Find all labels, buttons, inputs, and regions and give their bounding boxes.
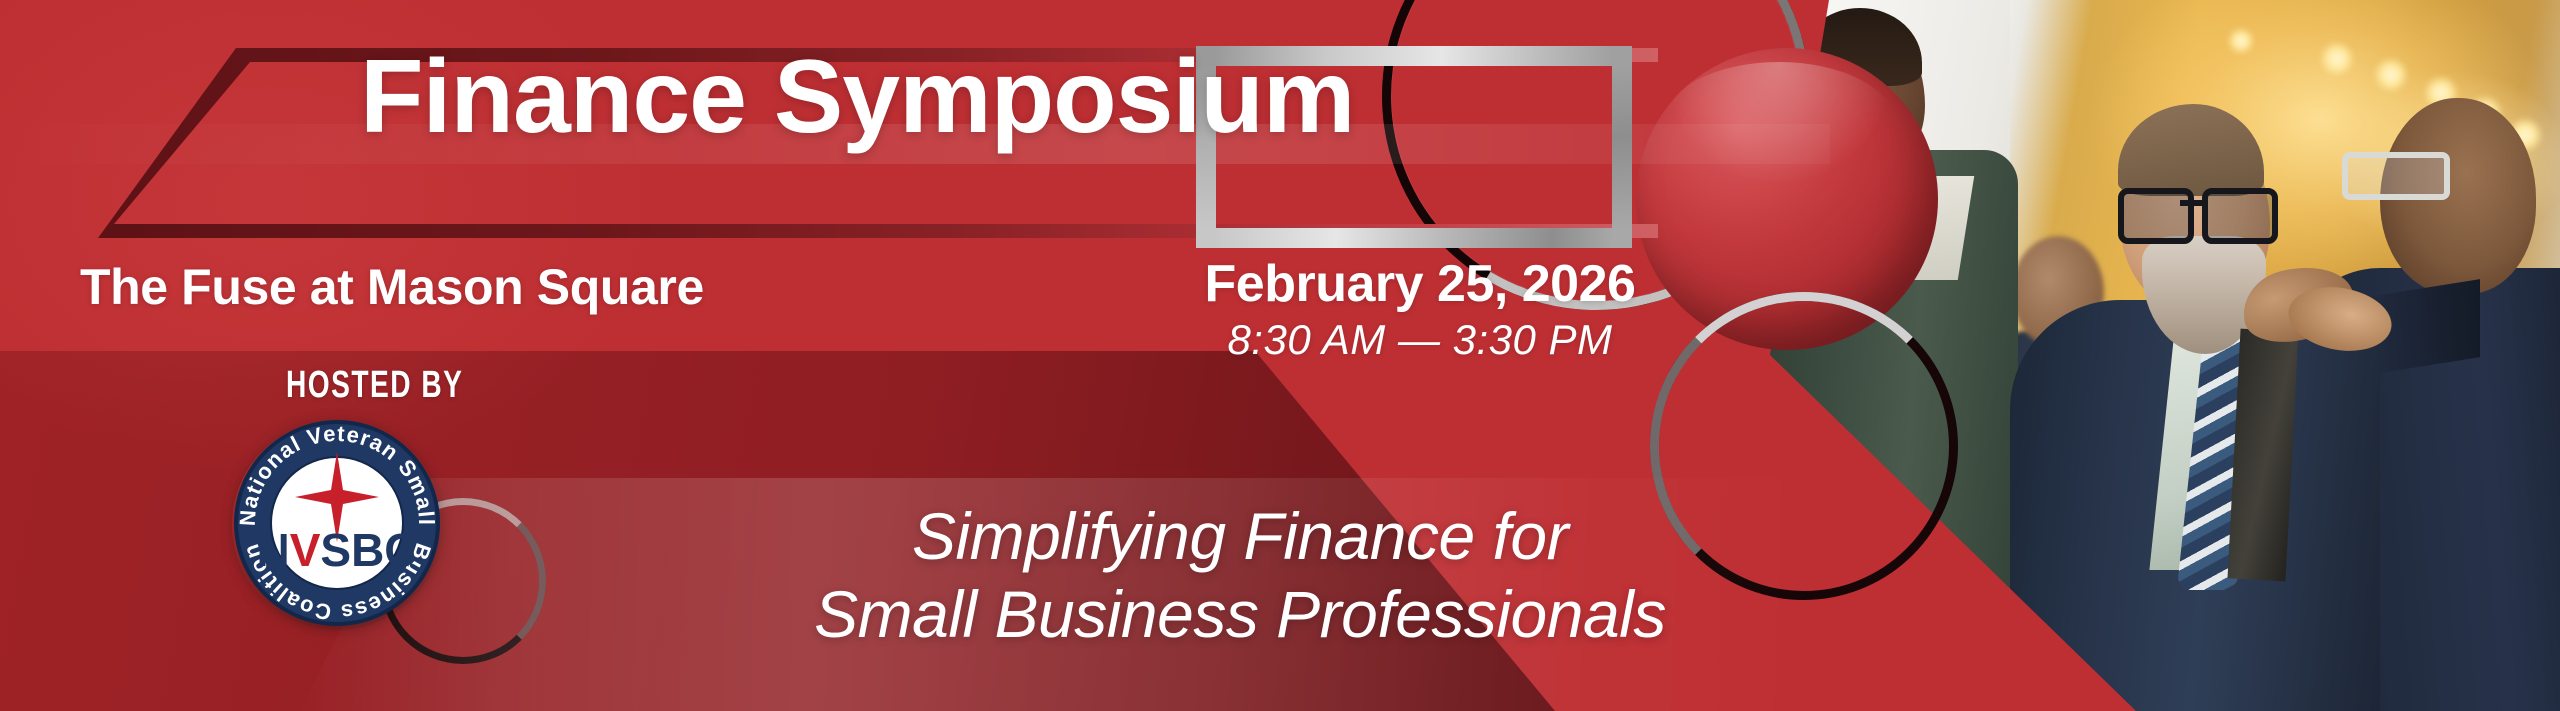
hosted-by-label: HOSTED BY: [286, 364, 463, 407]
tagline-line-1: Simplifying Finance for: [700, 498, 1780, 576]
page-title: Finance Symposium: [360, 44, 1354, 150]
event-datetime: February 25, 2026 8:30 AM — 3:30 PM: [1160, 254, 1680, 364]
eyeglasses-icon: [2118, 188, 2280, 234]
finance-symposium-banner: tal Symp ponso Chase ift: [0, 0, 2560, 711]
tagline-line-2: Small Business Professionals: [700, 576, 1780, 654]
logo-acronym: NVSBC: [256, 524, 417, 576]
decorative-disc-gloss: [1664, 62, 1894, 182]
nvsbc-logo: National Veteran Small Business Coalitio…: [232, 418, 442, 628]
venue-name: The Fuse at Mason Square: [80, 258, 704, 316]
event-time: 8:30 AM — 3:30 PM: [1160, 316, 1680, 364]
eyeglasses-icon: [2342, 152, 2450, 200]
event-tagline: Simplifying Finance for Small Business P…: [700, 498, 1780, 654]
event-date: February 25, 2026: [1160, 254, 1680, 314]
